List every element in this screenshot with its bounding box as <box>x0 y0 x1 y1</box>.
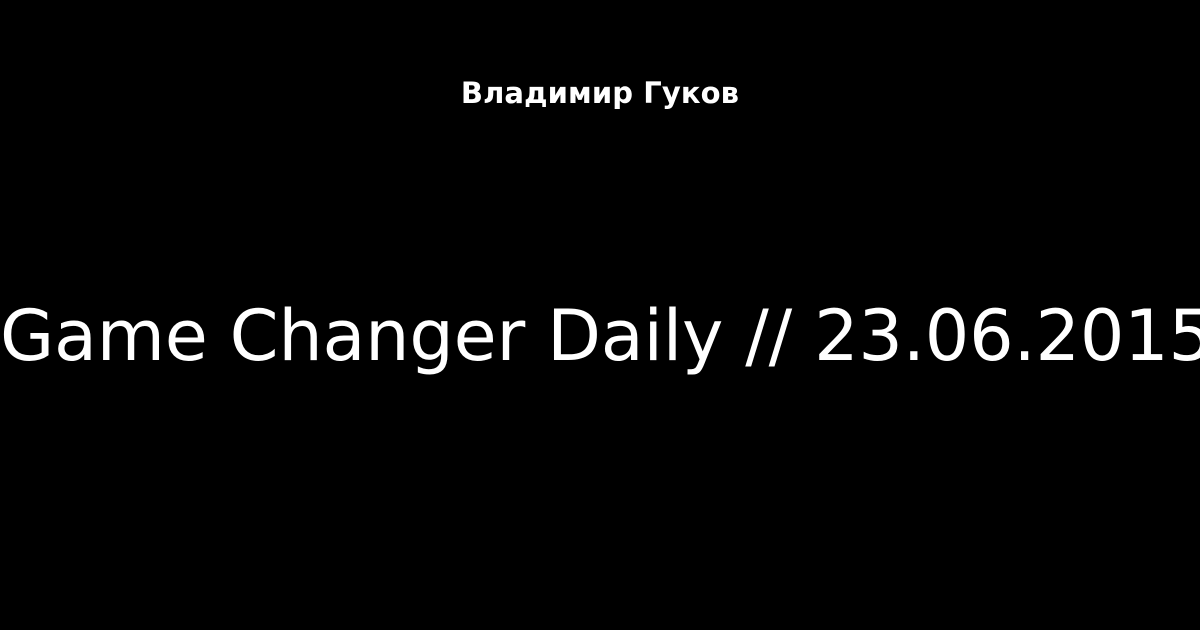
author-name: Владимир Гуков <box>461 78 739 110</box>
headline-container: Game Changer Daily // 23.06.2015 <box>0 252 1200 420</box>
page-title: Game Changer Daily // 23.06.2015 <box>0 299 1200 373</box>
byline: Владимир Гуков <box>0 78 1200 110</box>
share-card: Владимир Гуков Game Changer Daily // 23.… <box>0 0 1200 630</box>
